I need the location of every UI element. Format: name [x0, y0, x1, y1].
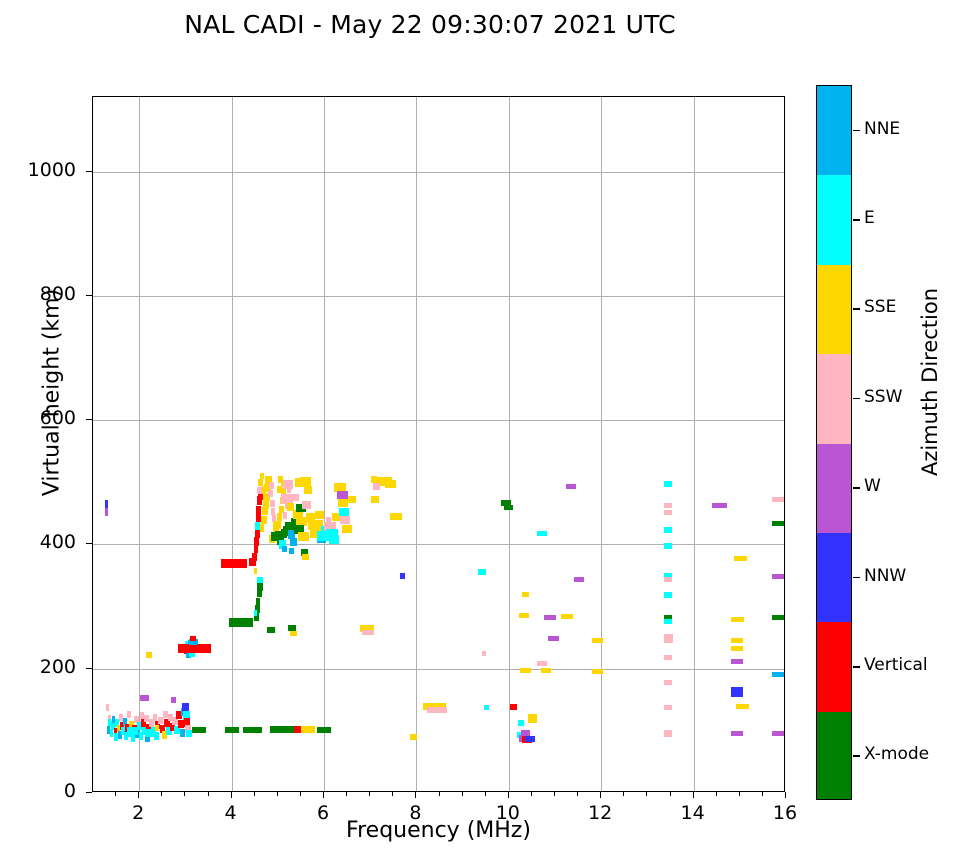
echo-marker	[410, 734, 416, 740]
echo-marker	[519, 613, 529, 618]
echo-marker	[342, 525, 352, 533]
echo-marker	[329, 535, 339, 544]
echo-marker	[537, 531, 546, 536]
colorbar-label-x-mode: X-mode	[864, 744, 929, 764]
y-tick-label: 400	[6, 531, 76, 553]
colorbar-tick	[853, 398, 860, 400]
echo-marker	[664, 730, 672, 737]
echo-marker	[317, 727, 331, 733]
x-minor-tick	[439, 792, 440, 796]
echo-marker	[427, 707, 447, 713]
gridline-horizontal	[93, 172, 784, 173]
echo-marker	[287, 503, 294, 511]
colorbar	[816, 85, 852, 800]
echo-marker	[271, 508, 276, 515]
y-tick-mark	[86, 668, 92, 669]
colorbar-segment-x-mode	[817, 712, 851, 800]
echo-marker	[186, 730, 192, 737]
echo-marker	[510, 704, 517, 710]
x-axis-title: Frequency (MHz)	[92, 818, 785, 843]
echo-marker	[772, 615, 784, 620]
echo-marker	[256, 598, 260, 605]
colorbar-label-sse: SSE	[864, 297, 896, 317]
echo-marker	[290, 631, 296, 636]
x-tick-mark	[323, 792, 324, 798]
echo-marker	[528, 714, 537, 723]
x-tick-mark	[138, 792, 139, 798]
plot-canvas	[93, 97, 784, 791]
echo-marker	[736, 704, 749, 709]
y-tick-mark	[86, 171, 92, 172]
echo-marker	[277, 486, 282, 493]
echo-marker	[270, 726, 295, 733]
y-axis-title: Virtual height (km)	[40, 253, 65, 533]
echo-marker	[105, 508, 108, 516]
echo-marker	[731, 692, 743, 697]
gridline-horizontal	[93, 669, 784, 670]
colorbar-segment-sse	[817, 265, 851, 354]
echo-marker	[229, 618, 253, 627]
x-minor-tick	[184, 792, 185, 796]
echo-marker	[243, 727, 261, 733]
echo-marker	[664, 481, 672, 487]
echo-marker	[155, 725, 159, 731]
echo-marker	[278, 476, 283, 483]
echo-marker	[574, 577, 584, 582]
echo-marker	[270, 500, 275, 507]
x-minor-tick	[161, 792, 162, 796]
echo-marker	[537, 661, 546, 666]
echo-marker	[290, 538, 296, 546]
echo-marker	[262, 507, 268, 515]
gridline-vertical	[601, 97, 602, 791]
x-tick-mark	[600, 792, 601, 798]
colorbar-title: Azimuth Direction	[918, 242, 942, 522]
echo-marker	[171, 697, 176, 703]
echo-marker	[362, 630, 374, 635]
x-tick-mark	[415, 792, 416, 798]
colorbar-segment-w	[817, 444, 851, 533]
gridline-vertical	[416, 97, 417, 791]
echo-marker	[256, 513, 261, 522]
echo-marker	[731, 659, 743, 664]
x-minor-tick	[392, 792, 393, 796]
echo-marker	[178, 644, 210, 653]
x-minor-tick	[485, 792, 486, 796]
echo-marker	[772, 497, 784, 502]
echo-marker	[257, 577, 263, 583]
colorbar-label-e: E	[864, 208, 875, 228]
x-tick-mark	[508, 792, 509, 798]
gridline-horizontal	[93, 420, 784, 421]
colorbar-tick	[853, 755, 860, 757]
echo-marker	[182, 703, 188, 711]
x-tick-mark	[693, 792, 694, 798]
x-minor-tick	[115, 792, 116, 796]
page-title: NAL CADI - May 22 09:30:07 2021 UTC	[0, 10, 860, 39]
colorbar-tick	[853, 487, 860, 489]
echo-marker	[664, 543, 672, 549]
echo-marker	[178, 720, 184, 728]
gridline-horizontal	[93, 544, 784, 545]
echo-marker	[283, 480, 293, 489]
echo-marker	[772, 521, 784, 526]
echo-marker	[254, 568, 257, 574]
echo-marker	[221, 559, 246, 568]
gridline-vertical	[139, 97, 140, 791]
echo-marker	[664, 634, 673, 643]
echo-marker	[326, 517, 332, 524]
echo-marker	[371, 476, 377, 483]
echo-marker	[664, 592, 672, 598]
gridline-vertical	[694, 97, 695, 791]
echo-marker	[504, 505, 513, 510]
echo-marker	[260, 473, 264, 479]
echo-marker	[288, 625, 296, 631]
echo-marker	[263, 501, 269, 509]
echo-marker	[261, 516, 267, 524]
echo-marker	[268, 490, 273, 497]
x-tick-mark	[231, 792, 232, 798]
echo-marker	[664, 503, 672, 508]
echo-marker	[275, 521, 281, 529]
echo-marker	[301, 726, 315, 733]
echo-marker	[518, 720, 524, 726]
echo-marker	[772, 672, 784, 677]
echo-marker	[289, 548, 294, 554]
echo-marker	[302, 554, 308, 560]
echo-marker	[592, 669, 603, 674]
x-minor-tick	[716, 792, 717, 796]
x-minor-tick	[670, 792, 671, 796]
x-minor-tick	[300, 792, 301, 796]
echo-marker	[252, 553, 257, 561]
echo-marker	[260, 524, 265, 532]
echo-marker	[258, 479, 263, 486]
y-tick-mark	[86, 543, 92, 544]
echo-marker	[256, 506, 261, 514]
echo-marker	[282, 546, 287, 552]
colorbar-label-vertical: Vertical	[864, 655, 928, 675]
echo-marker	[484, 705, 490, 710]
echo-marker	[269, 482, 274, 489]
x-minor-tick	[554, 792, 555, 796]
x-minor-tick	[623, 792, 624, 796]
plot-area	[92, 96, 785, 792]
colorbar-tick	[853, 577, 860, 579]
echo-marker	[106, 704, 109, 711]
echo-marker	[127, 727, 138, 735]
echo-marker	[254, 537, 258, 546]
x-minor-tick	[739, 792, 740, 796]
echo-marker	[664, 655, 672, 660]
x-minor-tick	[369, 792, 370, 796]
echo-marker	[283, 512, 288, 519]
echo-marker	[561, 614, 572, 619]
echo-marker	[371, 496, 379, 503]
colorbar-tick	[853, 666, 860, 668]
echo-marker	[525, 736, 535, 742]
x-minor-tick	[346, 792, 347, 796]
echo-marker	[145, 729, 153, 737]
echo-marker	[544, 615, 556, 620]
echo-marker	[772, 574, 784, 579]
echo-marker	[373, 483, 379, 490]
echo-marker	[664, 619, 672, 624]
colorbar-segment-ssw	[817, 354, 851, 443]
x-minor-tick	[762, 792, 763, 796]
echo-marker	[254, 610, 257, 616]
echo-marker	[712, 503, 727, 508]
y-tick-mark	[86, 419, 92, 420]
x-minor-tick	[254, 792, 255, 796]
echo-marker	[192, 727, 206, 733]
x-minor-tick	[462, 792, 463, 796]
x-minor-tick	[208, 792, 209, 796]
colorbar-segment-e	[817, 175, 851, 264]
echo-marker	[119, 714, 123, 721]
echo-marker	[664, 527, 672, 533]
echo-marker	[337, 491, 348, 499]
echo-marker	[277, 513, 283, 521]
colorbar-segment-nnw	[817, 533, 851, 622]
gridline-horizontal	[93, 296, 784, 297]
echo-marker	[731, 731, 743, 736]
x-minor-tick	[531, 792, 532, 796]
colorbar-label-ssw: SSW	[864, 387, 902, 407]
echo-marker	[664, 577, 672, 582]
echo-marker	[731, 617, 744, 622]
y-tick-mark	[86, 792, 92, 793]
echo-marker	[520, 668, 530, 673]
gridline-vertical	[324, 97, 325, 791]
echo-marker	[772, 731, 784, 736]
echo-marker	[592, 638, 602, 643]
echo-marker	[541, 668, 551, 673]
colorbar-label-nne: NNE	[864, 119, 900, 139]
echo-marker	[348, 496, 356, 503]
gridline-vertical	[232, 97, 233, 791]
y-tick-label: 200	[6, 656, 76, 678]
echo-marker	[298, 532, 309, 541]
echo-marker	[521, 730, 529, 735]
echo-marker	[734, 556, 747, 561]
echo-marker	[163, 711, 168, 718]
echo-marker	[140, 695, 149, 701]
x-minor-tick	[277, 792, 278, 796]
echo-marker	[664, 680, 672, 685]
ionogram-page: NAL CADI - May 22 09:30:07 2021 UTC 2468…	[0, 0, 958, 857]
echo-marker	[385, 480, 395, 488]
echo-marker	[482, 651, 487, 656]
colorbar-tick	[853, 219, 860, 221]
echo-marker	[225, 727, 239, 733]
echo-marker	[478, 569, 485, 575]
x-tick-mark	[785, 792, 786, 798]
echo-marker	[304, 486, 312, 494]
echo-marker	[127, 711, 131, 718]
echo-marker	[154, 732, 159, 740]
echo-marker	[315, 511, 323, 519]
echo-marker	[400, 573, 406, 579]
y-tick-label: 0	[6, 780, 76, 802]
gridline-vertical	[509, 97, 510, 791]
echo-marker	[340, 516, 350, 524]
echo-marker	[267, 627, 275, 633]
colorbar-segment-nne	[817, 86, 851, 175]
echo-marker	[302, 501, 310, 509]
echo-marker	[254, 545, 258, 553]
echo-marker	[664, 510, 672, 515]
echo-marker	[146, 652, 152, 658]
echo-marker	[731, 638, 743, 643]
echo-marker	[664, 705, 672, 710]
y-tick-label: 1000	[6, 159, 76, 181]
echo-marker	[731, 646, 743, 651]
echo-marker	[548, 636, 559, 641]
x-minor-tick	[577, 792, 578, 796]
echo-marker	[522, 592, 529, 597]
colorbar-tick	[853, 308, 860, 310]
echo-marker	[390, 513, 402, 520]
colorbar-tick	[853, 130, 860, 132]
echo-marker	[339, 508, 349, 516]
y-tick-mark	[86, 295, 92, 296]
colorbar-label-w: W	[864, 476, 881, 496]
colorbar-segment-vertical	[817, 622, 851, 711]
colorbar-label-nnw: NNW	[864, 566, 906, 586]
echo-marker	[190, 636, 196, 641]
echo-marker	[566, 484, 576, 489]
x-minor-tick	[646, 792, 647, 796]
echo-marker	[293, 494, 299, 501]
